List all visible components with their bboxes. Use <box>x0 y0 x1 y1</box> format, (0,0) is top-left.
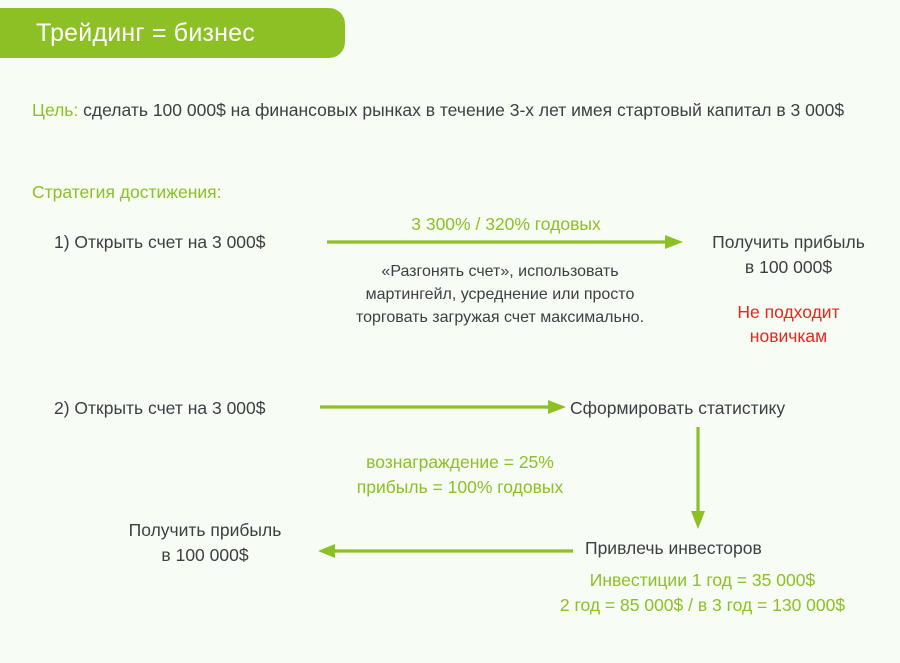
page-title: Трейдинг = бизнес <box>0 19 255 48</box>
slide-canvas: Трейдинг = бизнес Цель: сделать 100 000$… <box>0 0 900 663</box>
goal-body: сделать 100 000$ на финансовых рынках в … <box>78 100 844 120</box>
arrow-right-step2 <box>320 397 570 417</box>
step-1-warning: Не подходит новичкам <box>686 300 891 348</box>
step-2-result: Сформировать статистику <box>570 396 785 421</box>
step-2-final-profit: Получить прибыль в 100 000$ <box>105 518 305 568</box>
strategy-heading: Стратегия достижения: <box>32 180 221 205</box>
step-2-label: 2) Открыть счет на 3 000$ <box>54 396 266 421</box>
step-2-investments: Инвестиции 1 год = 35 000$ 2 год = 85 00… <box>515 568 890 618</box>
step-2-terms: вознаграждение = 25% прибыль = 100% годо… <box>300 450 620 500</box>
goal-label: Цель: <box>32 100 78 120</box>
step-1-label: 1) Открыть счет на 3 000$ <box>54 230 266 255</box>
arrow-right-step1 <box>327 232 685 252</box>
step-2-investors: Привлечь инвесторов <box>585 536 762 561</box>
step-1-result: Получить прибыль в 100 000$ <box>686 230 891 280</box>
arrow-left-to-profit <box>318 541 573 561</box>
arrow-down-to-investors <box>688 427 708 531</box>
goal-paragraph: Цель: сделать 100 000$ на финансовых рын… <box>32 98 872 123</box>
title-banner: Трейдинг = бизнес <box>0 8 345 58</box>
step-1-note: «Разгонять счет», использовать мартингей… <box>320 260 680 329</box>
